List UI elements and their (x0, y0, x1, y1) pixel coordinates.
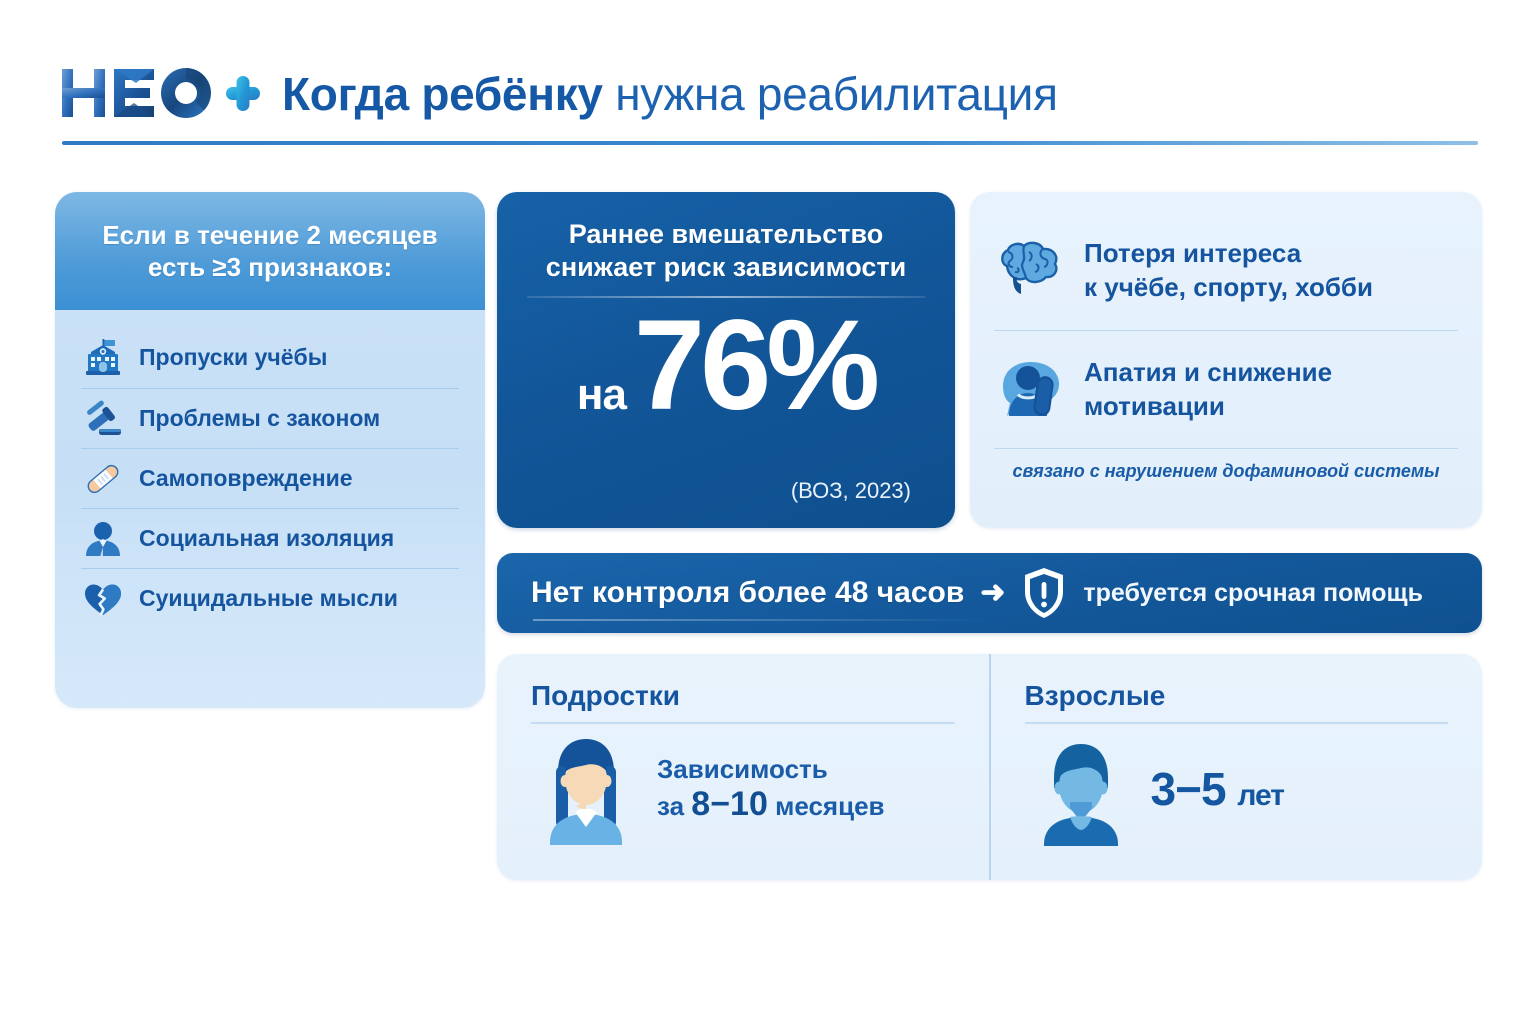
comparison-accent-value: 8−10 (691, 785, 768, 823)
comparison-text: Зависимость за 8−10 месяцев (657, 754, 885, 825)
symptom-line2: к учёбе, спорту, хобби (1084, 272, 1373, 302)
comparison-heading: Подростки (531, 680, 955, 712)
stat-value: 76% (634, 302, 875, 430)
page-title: Когда ребёнку нужна реабилитация (282, 71, 1058, 117)
comparison-body: 3−5 лет (1025, 730, 1449, 848)
urgent-condition-text: Нет контроля более 48 часов (531, 576, 964, 610)
stat-title: Раннее вмешательство снижает риск зависи… (497, 192, 955, 284)
page-title-light: нужна реабилитация (615, 68, 1057, 120)
comparison-column-teens: Подростки (497, 654, 989, 880)
list-item: Самоповреждение (81, 448, 459, 508)
gavel-icon (81, 397, 125, 441)
apathy-person-icon (994, 357, 1066, 423)
comparison-line1: Зависимость (657, 754, 885, 785)
comparison-unit: лет (1237, 779, 1284, 812)
symptoms-card: Потеря интереса к учёбе, спорту, хобби А… (970, 192, 1482, 528)
urgent-banner: Нет контроля более 48 часов ➜ требуется … (497, 553, 1482, 633)
broken-heart-icon (81, 577, 125, 621)
signs-heading-line1: Если в течение 2 месяцев (102, 219, 437, 251)
page-header: Когда ребёнку нужна реабилитация (60, 44, 1480, 144)
sign-label: Социальная изоляция (139, 526, 394, 551)
alert-shield-icon (1021, 566, 1067, 620)
comparison-line2: за 8−10 месяцев (657, 784, 885, 824)
school-icon (81, 336, 125, 380)
comparison-prefix: за (657, 791, 684, 821)
page-title-strong: Когда ребёнку (282, 68, 603, 120)
header-divider (62, 141, 1478, 145)
symptom-label: Потеря интереса к учёбе, спорту, хобби (1084, 237, 1373, 305)
sign-label: Суицидальные мысли (139, 586, 398, 611)
signs-list: Пропуски учёбы Проблемы с законом (55, 310, 485, 640)
sign-label: Проблемы с законом (139, 406, 380, 431)
list-item: Апатия и снижение мотивации (994, 330, 1458, 448)
infographic-page: Когда ребёнку нужна реабилитация Если в … (0, 0, 1536, 1024)
comparison-suffix: месяцев (775, 791, 884, 821)
symptom-line1: Апатия и снижение (1084, 357, 1332, 387)
adult-man-avatar (1025, 730, 1135, 848)
sign-label: Пропуски учёбы (139, 345, 327, 370)
early-intervention-stat-panel: Раннее вмешательство снижает риск зависи… (497, 192, 955, 528)
logo-icon (60, 63, 260, 125)
person-icon (81, 517, 125, 561)
signs-card-heading: Если в течение 2 месяцев есть ≥3 признак… (55, 192, 485, 310)
comparison-value: 3−5 лет (1151, 762, 1284, 816)
comparison-column-adults: Взрослые 3−5 (989, 654, 1483, 880)
symptom-line1: Потеря интереса (1084, 238, 1301, 268)
stat-prefix: на (577, 370, 626, 420)
bandage-icon (81, 457, 125, 501)
stat-value-group: на 76% (497, 302, 955, 430)
symptom-label: Апатия и снижение мотивации (1084, 356, 1332, 424)
comparison-body: Зависимость за 8−10 месяцев (531, 730, 955, 848)
list-item: Пропуски учёбы (81, 328, 459, 388)
brain-icon (994, 238, 1066, 304)
urgent-action-text: требуется срочная помощь (1083, 579, 1423, 608)
comparison-divider (1025, 722, 1449, 724)
arrow-right-icon: ➜ (980, 578, 1005, 608)
comparison-card: Подростки (497, 654, 1482, 880)
comparison-divider (531, 722, 955, 724)
teen-girl-avatar (531, 730, 641, 848)
list-item: Потеря интереса к учёбе, спорту, хобби (994, 212, 1458, 330)
stat-source: (ВОЗ, 2023) (791, 478, 911, 504)
banner-highlight (533, 619, 993, 621)
signs-heading-line2: есть ≥3 признаков: (148, 251, 392, 283)
brand-logo (60, 63, 260, 125)
symptom-line2: мотивации (1084, 391, 1225, 421)
list-item: Суицидальные мысли (81, 568, 459, 628)
list-item: Социальная изоляция (81, 508, 459, 568)
comparison-heading: Взрослые (1025, 680, 1449, 712)
comparison-range: 3−5 (1151, 763, 1226, 815)
sign-label: Самоповреждение (139, 466, 353, 491)
signs-card: Если в течение 2 месяцев есть ≥3 признак… (55, 192, 485, 708)
list-item: Проблемы с законом (81, 388, 459, 448)
symptoms-footnote: связано с нарушением дофаминовой системы (994, 448, 1458, 482)
stat-title-line1: Раннее вмешательство (523, 218, 929, 251)
stat-title-line2: снижает риск зависимости (523, 251, 929, 284)
